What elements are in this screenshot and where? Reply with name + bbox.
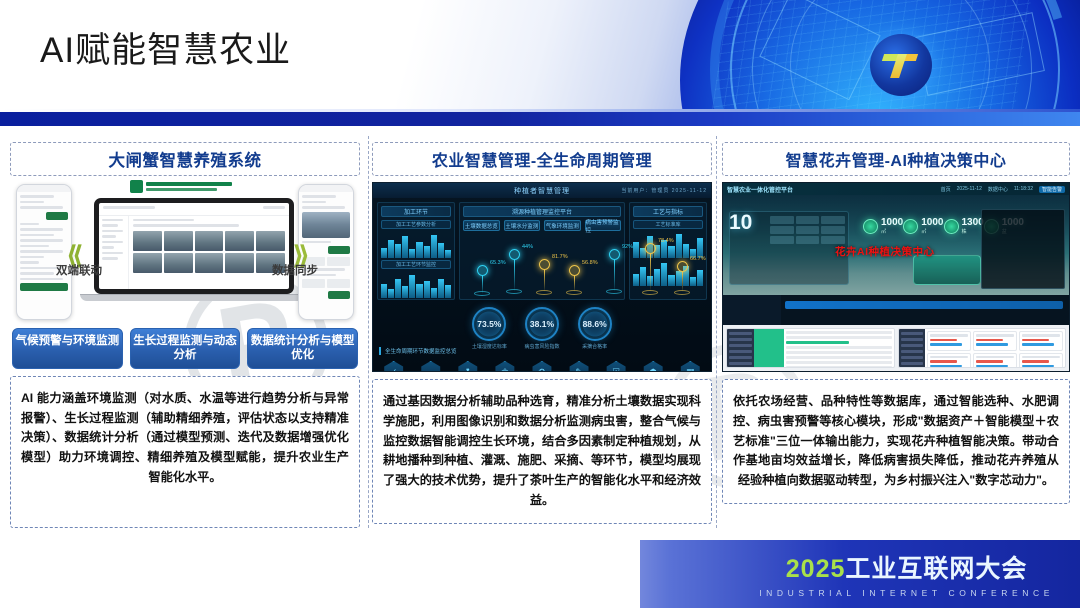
temperature-value: 10 bbox=[729, 211, 752, 235]
panel-title-2: 农业智慧管理-全生命周期管理 bbox=[372, 142, 712, 176]
hex-item-3[interactable]: ☘ 品种选育 bbox=[453, 361, 482, 372]
admin-left-green-column bbox=[754, 329, 784, 367]
kpi-value-1: 1000 bbox=[881, 217, 903, 228]
flower-kpi-row: 1000 ㎡ 1000 ㎡ bbox=[863, 217, 979, 235]
tree-node-2: 44% bbox=[509, 249, 520, 260]
tree-node-value-5: 92% bbox=[622, 244, 633, 250]
kpi-value-2: 1000 bbox=[921, 217, 943, 228]
flower-dashboard-screenshot: 智慧农业一体化管控平台 首页 2025-11-12 数据中心 11:18:32 … bbox=[722, 182, 1070, 372]
admin-right-cards bbox=[925, 329, 1065, 367]
laptop-sidebar bbox=[99, 216, 129, 295]
tree-node-1: 65.3% bbox=[477, 265, 488, 276]
hex-item-5[interactable]: ⚙ 施肥 bbox=[527, 361, 556, 372]
planting-plan-icon: ❀ bbox=[494, 361, 516, 372]
laptop-base bbox=[80, 294, 308, 301]
capability-tag-1[interactable]: 气候预警与环境监测 bbox=[12, 328, 123, 369]
pond-tile-grid bbox=[133, 231, 285, 273]
admin-card-2 bbox=[973, 331, 1017, 351]
gauge-value-1: 73.5% bbox=[477, 319, 501, 329]
dashboard-meta: 当前用户：管理员 2025-11-12 bbox=[621, 187, 707, 194]
dashboard-title: 种植者智慧管理 bbox=[514, 186, 570, 196]
laptop-screen bbox=[94, 198, 294, 294]
climate-icon: ☁ bbox=[420, 361, 442, 372]
description-text-2: 通过基因数据分析辅助品种选育，精准分析土壤数据实现科学施肥，利用图像识别和数据分… bbox=[383, 392, 701, 511]
flower-admin-screens bbox=[723, 325, 1069, 371]
company-logo-mark bbox=[130, 180, 143, 193]
admin-screen-left bbox=[726, 328, 895, 368]
gauge-value-3: 88.6% bbox=[583, 319, 607, 329]
dashboard-center-title: 溯源种植管理监控平台 bbox=[463, 206, 621, 217]
kpi-unit-2: ㎡ bbox=[921, 228, 943, 235]
gauge-value-2: 38.1% bbox=[530, 319, 554, 329]
flower-meta-4: 11:18:32 bbox=[1014, 186, 1033, 193]
hex-item-2[interactable]: ☁ 气候监测 bbox=[416, 361, 445, 372]
flower-dashboard-titlebar: 智慧农业一体化管控平台 首页 2025-11-12 数据中心 11:18:32 … bbox=[723, 183, 1069, 195]
admin-card-1 bbox=[927, 331, 971, 351]
overlay-annotation-1: 花卉AI种植决策中心 bbox=[835, 244, 935, 259]
company-logo bbox=[130, 180, 232, 193]
flower-dashboard-title: 智慧农业一体化管控平台 bbox=[727, 185, 793, 194]
weather-card-cells bbox=[770, 216, 845, 244]
dashboard-hex-row: ✓ 土壤检测 ☁ 气候监测 ☘ 品种选育 ❀ 种植规划 bbox=[373, 355, 711, 372]
flow-label-right: 数据同步 bbox=[272, 262, 318, 278]
dashboard-left-chip-1[interactable]: 加工工艺参数分析 bbox=[381, 220, 451, 229]
t-logo-icon bbox=[870, 34, 932, 96]
capability-tag-list: 气候预警与环境监测 生长过程监测与动态分析 数据统计分析与模型优化 bbox=[10, 328, 360, 369]
capability-tag-2[interactable]: 生长过程监测与动态分析 bbox=[130, 328, 241, 369]
laptop-topbar bbox=[99, 203, 289, 216]
column-crab-farming: 大闸蟹智慧养殖系统 bbox=[0, 136, 368, 540]
dashboard-center-button-3[interactable]: 气象环境监测 bbox=[544, 220, 581, 231]
flow-label-left: 双端联动 bbox=[56, 262, 102, 278]
description-box-2: 通过基因数据分析辅助品种选育，精准分析土壤数据实现科学施肥，利用图像识别和数据分… bbox=[372, 379, 712, 524]
phone-mockup-right bbox=[298, 184, 354, 320]
page-title: AI赋能智慧农业 bbox=[40, 22, 291, 73]
dashboard-columns: 加工环节 加工工艺参数分析 加工工艺环节监控 bbox=[373, 198, 711, 304]
capability-tag-3[interactable]: 数据统计分析与模型优化 bbox=[247, 328, 358, 369]
gauge-label-2: 病虫害风险指数 bbox=[524, 343, 559, 350]
conference-title-en: INDUSTRIAL INTERNET CONFERENCE bbox=[759, 588, 1054, 598]
dashboard-right-barchart-2 bbox=[633, 260, 703, 286]
admin-left-nav bbox=[727, 329, 754, 367]
gauge-label-3: 采摘合格率 bbox=[582, 343, 607, 350]
tree-node-value-6: 78.4% bbox=[658, 238, 674, 244]
hex-item-7[interactable]: ⛨ 病虫防治 bbox=[601, 361, 630, 372]
gauge-2: 38.1% 病虫害风险指数 bbox=[525, 307, 559, 341]
dashboard-center-panel: 溯源种植管理监控平台 土壤数据总览 土壤水分监测 气象环境监测 病虫害预警监控 … bbox=[459, 202, 625, 300]
pest-control-icon: ⛨ bbox=[605, 361, 627, 372]
gauge-label-1: 土壤湿度达标率 bbox=[472, 343, 507, 350]
tree-node-7: 66.7% bbox=[677, 261, 688, 272]
harvest-icon: ☗ bbox=[642, 361, 664, 372]
dashboard-center-button-1[interactable]: 土壤数据总览 bbox=[463, 220, 500, 231]
flower-secondary-sidebar bbox=[723, 295, 781, 325]
title-divider-bar bbox=[0, 112, 1080, 126]
kpi-icon-2 bbox=[903, 219, 918, 234]
admin-right-nav bbox=[899, 329, 926, 367]
column-separator-left bbox=[368, 136, 369, 528]
content-columns: 大闸蟹智慧养殖系统 bbox=[0, 136, 1080, 540]
dashboard-center-buttons: 土壤数据总览 土壤水分监测 气象环境监测 病虫害预警监控 bbox=[463, 220, 621, 231]
footer-white-area bbox=[0, 540, 640, 608]
admin-card-3 bbox=[1019, 331, 1063, 351]
dashboard-titlebar: 种植者智慧管理 当前用户：管理员 2025-11-12 bbox=[373, 183, 711, 198]
column-flower-ai: 智慧花卉管理-AI种植决策中心 智慧农业一体化管控平台 首页 2025-11-1… bbox=[716, 136, 1080, 540]
column-separator-right bbox=[716, 136, 717, 528]
description-text-3: 依托农场经营、品种特性等数据库，通过智能选种、水肥调控、病虫害预警等核心模块，形… bbox=[733, 392, 1059, 491]
phone-notch bbox=[17, 185, 71, 192]
conference-logo: 2025工业互联网大会 INDUSTRIAL INTERNET CONFEREN… bbox=[759, 549, 1054, 598]
dashboard-right-panel: 工艺与指标 工艺标准库 bbox=[629, 202, 707, 300]
kpi-icon-3 bbox=[944, 219, 959, 234]
tree-node-4: 56.8% bbox=[569, 265, 580, 276]
flower-right-video-panel bbox=[981, 209, 1065, 289]
conference-year: 2025 bbox=[786, 555, 846, 583]
conference-title-cn: 工业互联网大会 bbox=[845, 555, 1027, 583]
laptop-body bbox=[99, 216, 289, 295]
dashboard-center-button-2[interactable]: 土壤水分监测 bbox=[504, 220, 541, 231]
phone-notch-right bbox=[299, 185, 353, 192]
flower-dashboard-meta: 首页 2025-11-12 数据中心 11:18:32 智能告警 bbox=[941, 186, 1065, 193]
hex-item-9[interactable]: ▦ 仓储 bbox=[676, 361, 705, 372]
description-text-1: AI 能力涵盖环境监测（对水质、水温等进行趋势分析与异常报警）、生长过程监测（辅… bbox=[21, 389, 349, 488]
dashboard-gauge-row: 73.5% 土壤湿度达标率 38.1% 病虫害风险指数 88.6% 采摘合格率 bbox=[373, 304, 711, 344]
flower-meta-3[interactable]: 数据中心 bbox=[988, 186, 1008, 193]
flower-dashboard-secondary: 无土栽培高附加值作物及立体种植系统 bbox=[723, 295, 1069, 325]
admin-card-4 bbox=[927, 353, 971, 369]
agri-dashboard-screenshot: 种植者智慧管理 当前用户：管理员 2025-11-12 加工环节 加工工艺参数分… bbox=[372, 182, 712, 372]
hex-item-4[interactable]: ❀ 种植规划 bbox=[490, 361, 519, 372]
dashboard-left-panel: 加工环节 加工工艺参数分析 加工工艺环节监控 bbox=[377, 202, 455, 300]
dashboard-center-button-4[interactable]: 病虫害预警监控 bbox=[585, 220, 622, 231]
flower-secondary-bluebar bbox=[785, 301, 1063, 309]
panel-1-visual: ⟨⟨ ⟩⟩ 双端联动 数据同步 bbox=[10, 182, 360, 322]
gauge-3: 88.6% 采摘合格率 bbox=[578, 307, 612, 341]
hex-item-1[interactable]: ✓ 土壤检测 bbox=[379, 361, 408, 372]
slide-footer: 2025工业互联网大会 INDUSTRIAL INTERNET CONFEREN… bbox=[0, 540, 1080, 608]
tree-node-3: 81.7% bbox=[539, 259, 550, 270]
flower-meta-1[interactable]: 首页 bbox=[941, 186, 951, 193]
laptop-mockup bbox=[94, 198, 294, 301]
dashboard-network-visualization: 65.3% 44% 81.7% 56.8% 92% 78.4% 66.7% bbox=[463, 235, 621, 297]
soil-test-icon: ✓ bbox=[383, 361, 405, 372]
flower-alert-pill[interactable]: 智能告警 bbox=[1039, 186, 1065, 193]
panel-title-3: 智慧花卉管理-AI种植决策中心 bbox=[722, 142, 1070, 176]
tree-node-value-3: 81.7% bbox=[552, 254, 568, 260]
admin-left-content bbox=[784, 329, 894, 367]
gauge-1: 73.5% 土壤湿度达标率 bbox=[472, 307, 506, 341]
tree-node-5: 92% bbox=[609, 249, 620, 260]
hex-item-6[interactable]: ✎ 灌溉 bbox=[564, 361, 593, 372]
flower-info-card bbox=[913, 255, 981, 285]
slide-root: AI赋能智慧农业 Ⓟ Ⓟ 大闸蟹智慧养殖系统 bbox=[0, 0, 1080, 608]
conference-logo-line1: 2025工业互联网大会 bbox=[759, 549, 1054, 585]
flower-meta-2: 2025-11-12 bbox=[957, 186, 982, 193]
storage-icon: ▦ bbox=[679, 361, 701, 372]
hex-item-8[interactable]: ☗ 采摘加工 bbox=[639, 361, 668, 372]
description-box-1: AI 能力涵盖环境监测（对水质、水温等进行趋势分析与异常报警）、生长过程监测（辅… bbox=[10, 376, 360, 528]
tree-node-value-7: 66.7% bbox=[690, 256, 706, 262]
kpi-unit-1: ㎡ bbox=[881, 228, 903, 235]
dashboard-right-title: 工艺与指标 bbox=[633, 206, 703, 217]
panel-title-1: 大闸蟹智慧养殖系统 bbox=[10, 142, 360, 176]
dashboard-left-chip-2[interactable]: 加工工艺环节监控 bbox=[381, 260, 451, 269]
admin-card-5 bbox=[973, 353, 1017, 369]
flower-greenhouse-view: 10 1000 ㎡ 1000 bbox=[723, 195, 1069, 295]
kpi-icon-1 bbox=[863, 219, 878, 234]
tree-node-value-1: 65.3% bbox=[490, 260, 506, 266]
breeding-icon: ☘ bbox=[457, 361, 479, 372]
irrigation-icon: ✎ bbox=[568, 361, 590, 372]
description-box-3: 依托农场经营、品种特性等数据库，通过智能选种、水肥调控、病虫害预警等核心模块，形… bbox=[722, 379, 1070, 504]
flower-kpi-1: 1000 ㎡ bbox=[863, 217, 903, 235]
dashboard-left-barchart-2 bbox=[381, 272, 451, 298]
phone-screen-right bbox=[299, 192, 353, 305]
tree-node-value-4: 56.8% bbox=[582, 260, 598, 266]
admin-screen-right bbox=[898, 328, 1067, 368]
fertilize-icon: ⚙ bbox=[531, 361, 553, 372]
dashboard-left-title: 加工环节 bbox=[381, 206, 451, 217]
laptop-main bbox=[129, 216, 289, 295]
dashboard-right-chip-1[interactable]: 工艺标准库 bbox=[633, 220, 703, 229]
column-agri-lifecycle: 农业智慧管理-全生命周期管理 种植者智慧管理 当前用户：管理员 2025-11-… bbox=[368, 136, 716, 540]
tree-node-value-2: 44% bbox=[522, 244, 533, 250]
tree-node-6: 78.4% bbox=[645, 243, 656, 254]
flower-kpi-2: 1000 ㎡ bbox=[903, 217, 943, 235]
phone-mockup-left bbox=[16, 184, 72, 320]
dashboard-left-barchart-1 bbox=[381, 232, 451, 258]
phone-screen-left bbox=[17, 192, 71, 297]
admin-card-6 bbox=[1019, 353, 1063, 369]
company-logo-text bbox=[146, 182, 232, 191]
dashboard-right-barchart bbox=[633, 232, 703, 258]
flower-kpi-3: 1300 株 bbox=[944, 217, 984, 235]
